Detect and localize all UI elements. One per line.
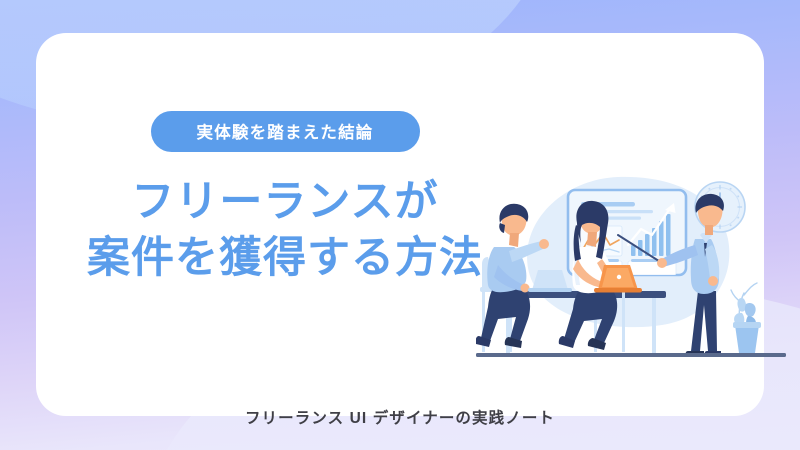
footer-caption: フリーランス UI デザイナーの実践ノート — [36, 406, 764, 428]
eyebrow-badge: 実体験を踏まえた結論 — [151, 111, 420, 152]
text-column: 実体験を踏まえた結論 フリーランスが 案件を獲得する方法 — [70, 111, 500, 287]
illustration-business-team-presentation — [476, 173, 786, 378]
slide-canvas: 実体験を踏まえた結論 フリーランスが 案件を獲得する方法 フリーランス UI デ… — [0, 0, 800, 450]
content-card: 実体験を踏まえた結論 フリーランスが 案件を獲得する方法 フリーランス UI デ… — [36, 33, 764, 416]
floor-line — [476, 353, 786, 357]
page-title-line-2: 案件を獲得する方法 — [70, 231, 500, 287]
page-title: フリーランスが 案件を獲得する方法 — [70, 175, 500, 287]
potted-plant — [731, 283, 761, 353]
page-title-line-1: フリーランスが — [70, 175, 500, 231]
